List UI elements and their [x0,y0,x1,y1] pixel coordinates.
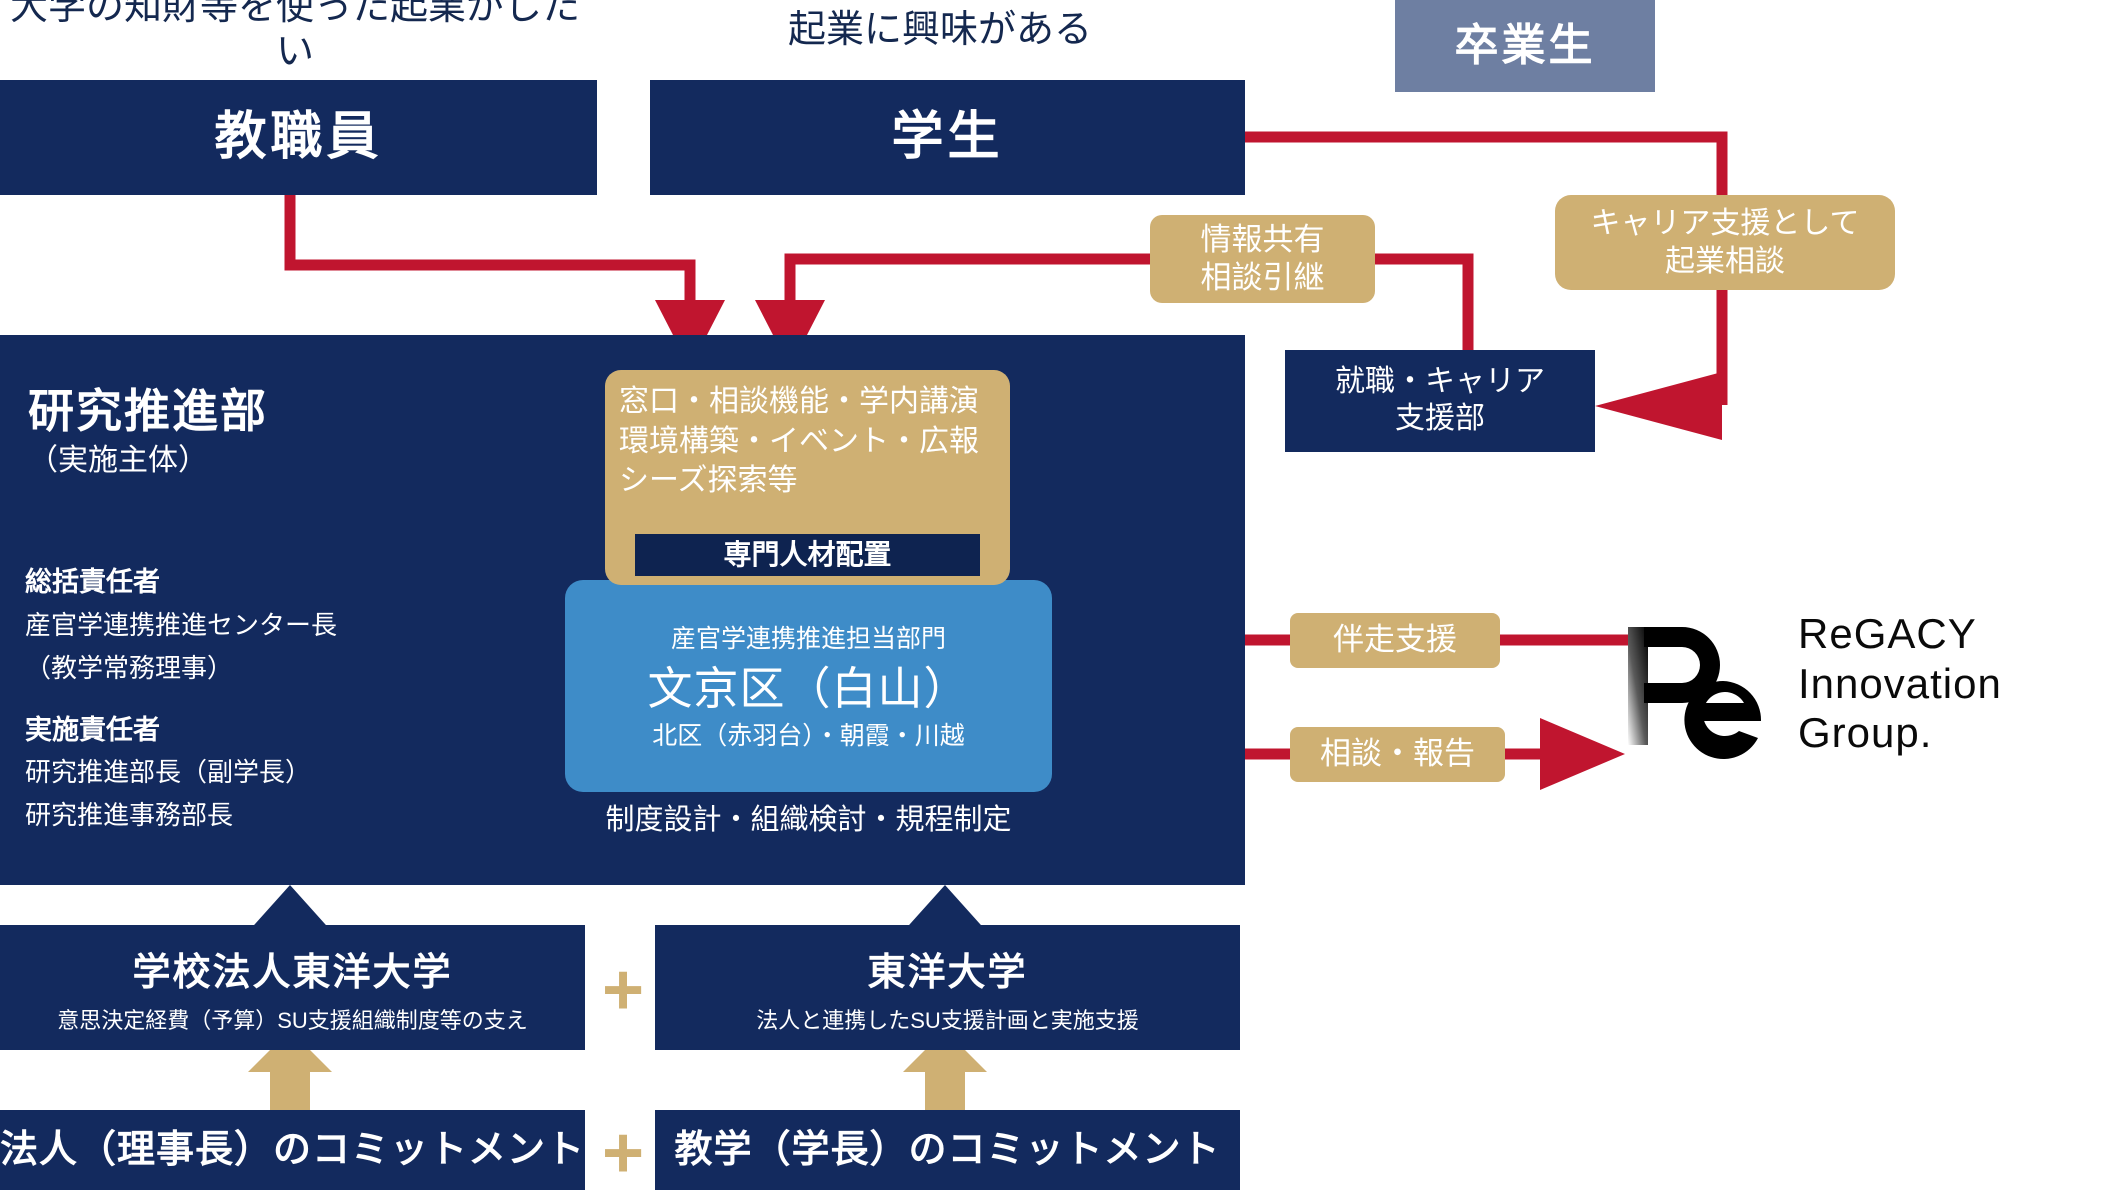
panel-subtitle: （実施主体） [28,435,588,479]
panel-footer-note: 制度設計・組織検討・規程制定 [565,803,1052,837]
role-general-manager-line2: （教学常務理事） [25,648,625,685]
pill-information-sharing[interactable]: 情報共有 相談引継 [1150,215,1375,303]
plus-sign-lower: + [595,1118,651,1188]
connector-student-to-career [1245,137,1722,195]
logo-line-2: Innovation [1798,659,2118,709]
pill-bansou-support[interactable]: 伴走支援 [1290,613,1500,668]
diagram-canvas: 大学の知財等を使った起業がしたい 起業に興味がある 教職員 学生 卒業生 研究推… [0,0,2125,1191]
box-student[interactable]: 学生 [650,80,1245,195]
function-line-1: 窓口・相談機能・学内講演 [619,382,996,422]
blue-card-main-location: 文京区（白山） [565,662,1052,715]
pill-career-consultation[interactable]: キャリア支援として 起業相談 [1555,195,1895,290]
box-university-toyo[interactable]: 東洋大学 法人と連携したSU支援計画と実施支援 [655,925,1240,1050]
connector-faculty [290,195,690,300]
caption-faculty: 大学の知財等を使った起業がしたい [0,4,590,56]
pill-info-line2: 相談引継 [1201,259,1325,297]
career-box-line1: 就職・キャリア [1335,364,1545,401]
regacy-logo-text: ReGACY Innovation Group. [1798,609,2118,758]
regacy-logo: ReGACY Innovation Group. [1620,605,2110,780]
regacy-re-mark-icon [1620,613,1780,773]
box-commitment-university[interactable]: 教学（学長）のコミットメント [655,1110,1240,1190]
role-general-manager-heading: 総括責任者 [25,560,585,599]
corp-subtitle: 意思決定経費（予算）SU支援組織制度等の支え [57,1003,528,1035]
box-graduate[interactable]: 卒業生 [1395,0,1655,92]
blue-card-sub-locations: 北区（赤羽台）・朝霞・川越 [565,722,1052,752]
logo-line-1: ReGACY [1798,609,2118,659]
chip-expert-staffing[interactable]: 専門人材配置 [635,534,980,576]
caption-student: 起業に興味がある [640,4,1240,56]
connector-info-share-left [790,259,1150,300]
box-career-support-dept[interactable]: 就職・キャリア 支援部 [1285,350,1595,452]
univ-subtitle: 法人と連携したSU支援計画と実施支援 [756,1003,1139,1035]
plus-sign-upper: + [595,955,651,1025]
corp-title: 学校法人東洋大学 [132,941,452,996]
career-box-line2: 支援部 [1395,401,1485,438]
box-faculty[interactable]: 教職員 [0,80,597,195]
role-general-manager-line1: 産官学連携推進センター長 [25,605,625,642]
pill-consult-report[interactable]: 相談・報告 [1290,727,1505,782]
role-implementation-manager-heading: 実施責任者 [25,708,585,747]
pill-career-line2: 起業相談 [1665,243,1785,280]
role-implementation-manager-line2: 研究推進事務部長 [25,795,625,832]
role-implementation-manager-line1: 研究推進部長（副学長） [25,752,625,789]
box-corporation-toyo[interactable]: 学校法人東洋大学 意思決定経費（予算）SU支援組織制度等の支え [0,925,585,1050]
logo-line-3: Group. [1798,708,2118,758]
arrowhead-soudan [1540,718,1625,790]
univ-title: 東洋大学 [867,941,1027,996]
function-line-3: シーズ探索等 [619,461,996,501]
box-commitment-corporation[interactable]: 法人（理事長）のコミットメント [0,1110,585,1190]
connector-info-share-right [1375,259,1468,350]
pill-career-line1: キャリア支援として [1590,205,1859,242]
blue-card-department: 産官学連携推進担当部門 [565,625,1052,655]
arrowhead-career [1595,372,1722,440]
pill-info-line1: 情報共有 [1201,221,1325,259]
panel-title: 研究推進部 [28,375,588,441]
function-line-2: 環境構築・イベント・広報 [619,422,996,462]
